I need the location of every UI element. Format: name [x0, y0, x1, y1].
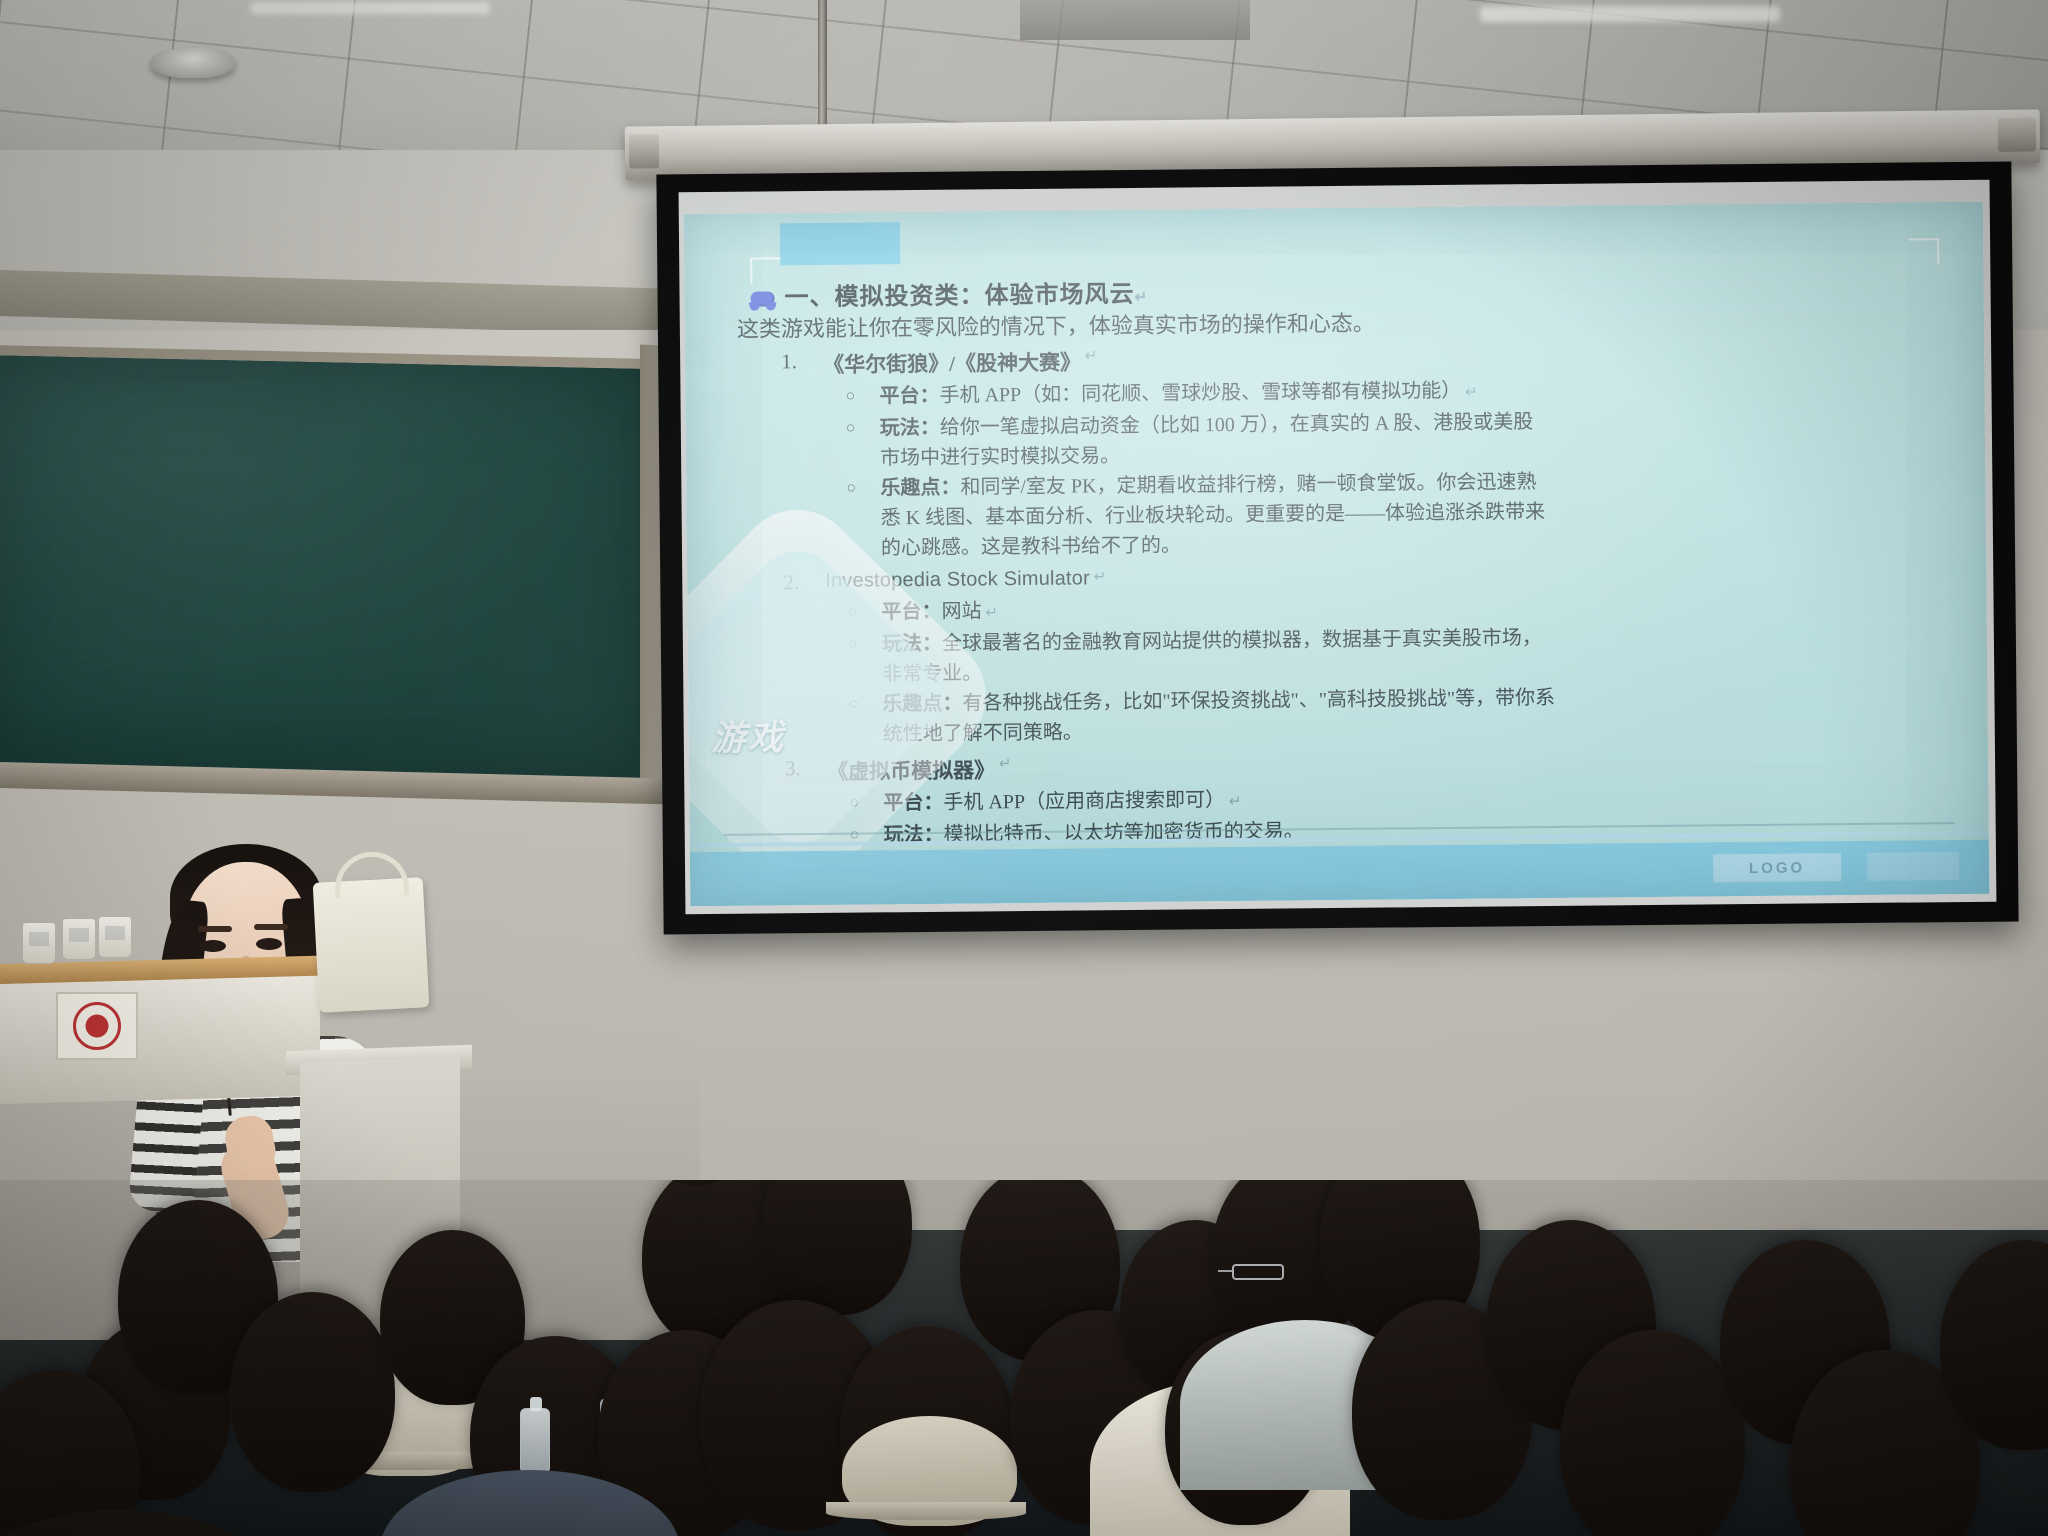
bullet-label: 玩法：: [880, 417, 940, 440]
projected-slide: 一、模拟投资类：体验市场风云↵ 这类游戏能让你在零风险的情况下，体验真实市场的操…: [684, 202, 1990, 906]
bullet-circle-icon: ○: [846, 413, 880, 443]
slide-logo-secondary: [1867, 852, 1959, 881]
sub-bullets: ○ 平台：网站 ↵ ○ 玩法：全球最著名的金融教育网站提供的模拟器，数据基于真实…: [847, 587, 1974, 750]
ceiling-vent: [1020, 0, 1250, 40]
pilcrow-mark: ↵: [1225, 794, 1241, 810]
bullet-line: 手机 APP（应用商店搜索即可）: [943, 789, 1225, 814]
bullet-circle-icon: ○: [846, 473, 880, 503]
slide-numbered-list: 1. 《华尔街狼》/《股神大赛》 ↵ ○ 平台：手机 APP（如：同花顺、雪球炒…: [781, 338, 1976, 906]
list-item: 1. 《华尔街狼》/《股神大赛》 ↵ ○ 平台：手机 APP（如：同花顺、雪球炒…: [781, 338, 1973, 564]
item-index: 1.: [781, 349, 823, 379]
slide-accent-block: [780, 222, 900, 265]
screen-surface: 一、模拟投资类：体验市场风云↵ 这类游戏能让你在零风险的情况下，体验真实市场的操…: [679, 180, 1997, 915]
tote-bag: [313, 877, 430, 1013]
blackboard: [0, 345, 660, 789]
pilcrow-mark: ↵: [1090, 567, 1107, 592]
water-bottle: [520, 1408, 550, 1472]
presenter-eye-left: [200, 940, 226, 952]
pilcrow-mark: ↵: [995, 754, 1012, 784]
audience-head: [230, 1292, 395, 1492]
pilcrow-mark: ↵: [1461, 385, 1477, 401]
bullet-line: 手机 APP（如：同花顺、雪球炒股、雪球等都有模拟功能）: [939, 380, 1461, 407]
item-title: 《华尔街狼》/《股神大赛》: [823, 346, 1081, 378]
slide-watermark-label: 游戏: [711, 709, 786, 761]
bullet-circle-icon: ○: [845, 381, 879, 413]
bullet-label: 平台：: [879, 385, 939, 408]
ceiling-light: [1480, 6, 1780, 22]
sub-bullets: ○ 平台：手机 APP（如：同花顺、雪球炒股、雪球等都有模拟功能） ↵ ○ 玩法…: [845, 371, 1973, 564]
slide-bottom-bar: LOGO: [690, 840, 1989, 906]
bullet-label: 乐趣点：: [880, 477, 960, 500]
paper-cup: [62, 918, 96, 960]
slide-logo: LOGO: [1713, 853, 1841, 882]
pilcrow-mark: ↵: [1081, 346, 1098, 376]
gamepad-icon: [751, 291, 775, 306]
bullet-line: 全球最著名的金融教育网站提供的模拟器，数据基于真实美股市场，: [942, 627, 1542, 655]
podium-emblem: [56, 992, 138, 1060]
bullet-spacer: [847, 503, 881, 533]
audience-glasses-icon: [1232, 1264, 1284, 1280]
screen-housing-end-cap: [629, 134, 659, 168]
ceiling-light: [250, 2, 490, 14]
slide-content: 一、模拟投资类：体验市场风云↵ 这类游戏能让你在零风险的情况下，体验真实市场的操…: [684, 202, 1990, 906]
paper-cup: [98, 916, 132, 958]
lecture-hall-photo: 一、模拟投资类：体验市场风云↵ 这类游戏能让你在零风险的情况下，体验真实市场的操…: [0, 0, 2048, 1536]
bullet-line: 和同学/室友 PK，定期看收益排行榜，赌一顿食堂饭。你会迅速熟: [960, 471, 1536, 499]
presenter-brow-right: [254, 924, 288, 930]
presenter-eye-right: [256, 938, 282, 950]
pilcrow-mark: ↵: [1135, 290, 1149, 306]
pilcrow-mark: ↵: [982, 605, 998, 621]
screen-housing-end-cap: [1998, 117, 2036, 151]
presenter-brow-left: [198, 926, 232, 932]
smoke-detector-icon: [150, 48, 236, 78]
bullet-spacer: [846, 443, 880, 473]
bullet-line: 网站: [941, 600, 981, 622]
slide-corner-mark-top-right: [1909, 238, 1939, 264]
wall-beam: [0, 270, 700, 336]
projector-screen: 一、模拟投资类：体验市场风云↵ 这类游戏能让你在零风险的情况下，体验真实市场的操…: [656, 162, 2018, 935]
audience: [0, 1180, 2048, 1536]
slide-heading-text: 一、模拟投资类：体验市场风云: [784, 282, 1134, 311]
bullet-line: 有各种挑战任务，比如"环保投资挑战"、"高科技股挑战"等，带你系: [962, 687, 1555, 715]
paper-cup: [22, 922, 56, 964]
audience-cap-brim: [826, 1502, 1026, 1520]
front-desk-body: [0, 976, 320, 1105]
bullet-line: 给你一笔虚拟启动资金（比如 100 万），在真实的 A 股、港股或美股: [940, 411, 1534, 439]
slide-heading: 一、模拟投资类：体验市场风云↵: [750, 274, 1148, 313]
